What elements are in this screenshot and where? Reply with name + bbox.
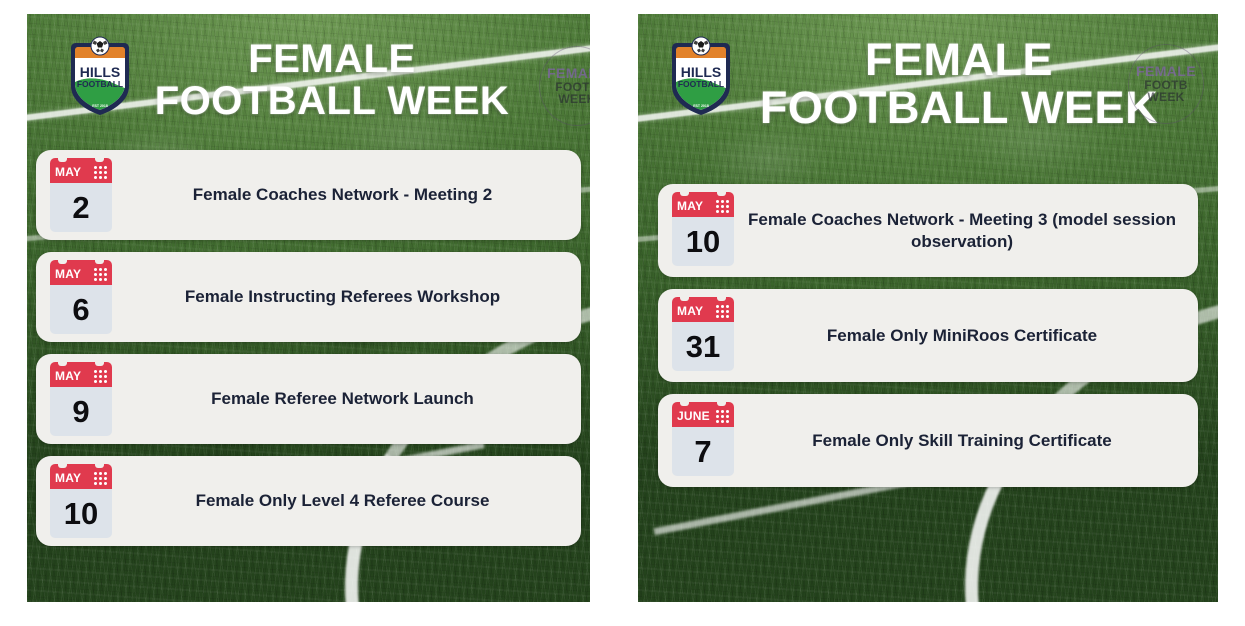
calendar-day: 9 xyxy=(72,396,89,427)
calendar-notch xyxy=(717,294,726,301)
calendar-notch xyxy=(58,461,67,468)
calendar-icon: MAY 9 xyxy=(50,362,112,436)
event-list: MAY 10 Female Coaches Network - Meeting … xyxy=(638,184,1218,499)
calendar-day: 6 xyxy=(72,294,89,325)
panel-header: HILLS FOOTBALL EST 2018 FEMALE FOOTBALL … xyxy=(27,14,590,138)
calendar-icon: JUNE 7 xyxy=(672,402,734,476)
right-panel: HILLS FOOTBALL EST 2018 FEMALE FOOTBALL … xyxy=(638,14,1218,602)
calendar-notch xyxy=(95,461,104,468)
calendar-day: 7 xyxy=(694,436,711,467)
event-title: Female Referee Network Launch xyxy=(112,388,581,409)
calendar-notch xyxy=(717,399,726,406)
logo-line2: FOOTBALL xyxy=(678,79,724,89)
calendar-notch xyxy=(58,155,67,162)
page-title: FEMALE FOOTBALL WEEK xyxy=(137,38,527,123)
panel-header: HILLS FOOTBALL EST 2018 FEMALE FOOTBALL … xyxy=(638,14,1218,138)
event-title: Female Coaches Network - Meeting 3 (mode… xyxy=(734,209,1198,252)
logo-est: EST 2018 xyxy=(693,104,709,108)
calendar-dots-icon xyxy=(94,469,107,485)
calendar-month: MAY xyxy=(55,163,81,178)
event-list: MAY 2 Female Coaches Network - Meeting 2… xyxy=(27,150,590,558)
event-title: Female Only Level 4 Referee Course xyxy=(112,490,581,511)
calendar-dots-icon xyxy=(716,302,729,318)
calendar-icon: MAY 10 xyxy=(50,464,112,538)
calendar-month: MAY xyxy=(677,197,703,212)
calendar-month: MAY xyxy=(677,302,703,317)
calendar-day: 10 xyxy=(64,498,98,529)
calendar-day: 2 xyxy=(72,192,89,223)
event-card[interactable]: MAY 10 Female Only Level 4 Referee Cours… xyxy=(36,456,581,546)
logo-est: EST 2018 xyxy=(92,104,108,108)
event-card[interactable]: MAY 9 Female Referee Network Launch xyxy=(36,354,581,444)
calendar-dots-icon xyxy=(94,367,107,383)
event-title: Female Coaches Network - Meeting 2 xyxy=(112,184,581,205)
badge-line3: WEEK xyxy=(558,93,590,105)
calendar-month: MAY xyxy=(55,367,81,382)
female-football-week-badge: FEMALE FOOTB WEEK xyxy=(539,46,590,126)
calendar-month: MAY xyxy=(55,469,81,484)
badge-line1: FEMALE xyxy=(547,66,590,81)
logo-line1: HILLS xyxy=(80,64,120,80)
calendar-month: JUNE xyxy=(677,407,710,422)
page-title: FEMALE FOOTBALL WEEK xyxy=(744,36,1174,131)
logo-line2: FOOTBALL xyxy=(77,79,123,89)
calendar-notch xyxy=(680,189,689,196)
calendar-dots-icon xyxy=(94,163,107,179)
calendar-icon: MAY 6 xyxy=(50,260,112,334)
calendar-notch xyxy=(680,399,689,406)
event-title: Female Only MiniRoos Certificate xyxy=(734,325,1198,346)
calendar-icon: MAY 31 xyxy=(672,297,734,371)
calendar-notch xyxy=(58,359,67,366)
calendar-notch xyxy=(95,359,104,366)
calendar-dots-icon xyxy=(716,407,729,423)
logo-line1: HILLS xyxy=(681,64,721,80)
calendar-icon: MAY 2 xyxy=(50,158,112,232)
calendar-notch xyxy=(58,257,67,264)
calendar-day: 31 xyxy=(686,331,720,362)
event-card[interactable]: JUNE 7 Female Only Skill Training Certif… xyxy=(658,394,1198,487)
hills-football-logo: HILLS FOOTBALL EST 2018 xyxy=(668,36,734,118)
poster-canvas: HILLS FOOTBALL EST 2018 FEMALE FOOTBALL … xyxy=(0,0,1245,626)
left-panel: HILLS FOOTBALL EST 2018 FEMALE FOOTBALL … xyxy=(27,14,590,602)
calendar-notch xyxy=(95,257,104,264)
event-title: Female Instructing Referees Workshop xyxy=(112,286,581,307)
event-card[interactable]: MAY 10 Female Coaches Network - Meeting … xyxy=(658,184,1198,277)
calendar-notch xyxy=(95,155,104,162)
female-football-week-badge: FEMALE FOOTB WEEK xyxy=(1128,44,1204,124)
calendar-dots-icon xyxy=(94,265,107,281)
calendar-day: 10 xyxy=(686,226,720,257)
calendar-icon: MAY 10 xyxy=(672,192,734,266)
calendar-month: MAY xyxy=(55,265,81,280)
event-title: Female Only Skill Training Certificate xyxy=(734,430,1198,451)
hills-football-logo: HILLS FOOTBALL EST 2018 xyxy=(67,36,133,118)
badge-line3: WEEK xyxy=(1147,91,1184,103)
calendar-dots-icon xyxy=(716,197,729,213)
event-card[interactable]: MAY 6 Female Instructing Referees Worksh… xyxy=(36,252,581,342)
badge-line1: FEMALE xyxy=(1136,64,1196,79)
calendar-notch xyxy=(717,189,726,196)
event-card[interactable]: MAY 31 Female Only MiniRoos Certificate xyxy=(658,289,1198,382)
calendar-notch xyxy=(680,294,689,301)
event-card[interactable]: MAY 2 Female Coaches Network - Meeting 2 xyxy=(36,150,581,240)
